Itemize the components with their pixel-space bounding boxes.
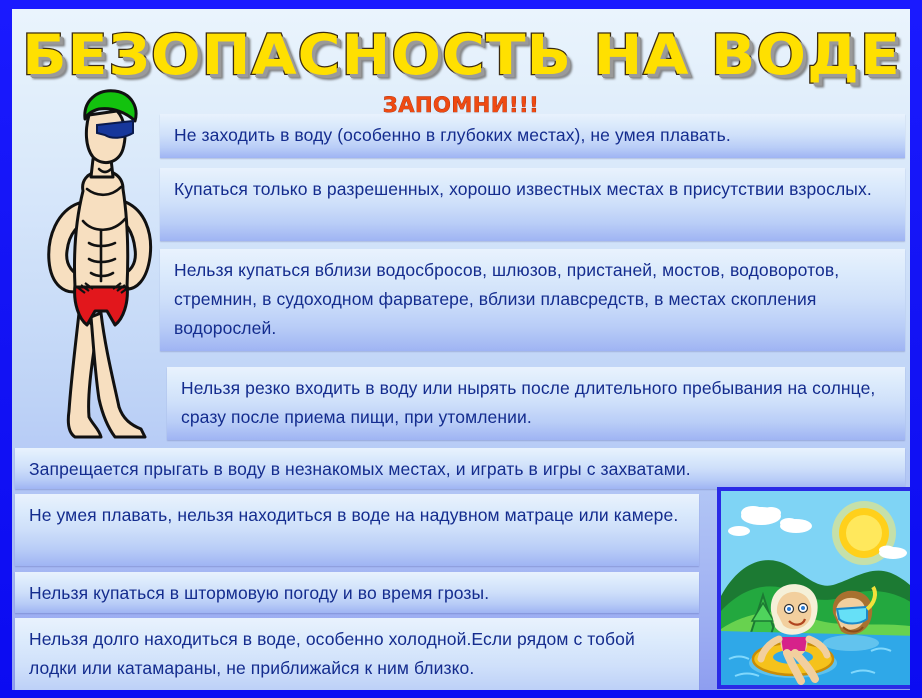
swimsuit [781,637,807,651]
rule-box-1: Не заходить в воду (особенно в глубоких … [160,114,905,158]
beach-scene-illustration [717,487,910,689]
rule-box-3: Нельзя купаться вблизи водосбросов, шлюз… [160,249,905,351]
rule-box-6: Не умея плавать, нельзя находиться в вод… [15,494,699,566]
beach-scene-svg [721,491,910,685]
poster-title-area: БЕЗОПАСНОСТЬ НА ВОДЕ [12,25,910,85]
sunglasses-icon [97,121,133,138]
rule-text: Нельзя долго находиться в воде, особенно… [29,625,685,683]
snorkel-mask-icon [837,607,867,624]
rule-text: Не умея плавать, нельзя находиться в вод… [29,501,685,530]
rule-box-2: Купаться только в разрешенных, хорошо из… [160,168,905,241]
rule-box-7: Нельзя купаться в штормовую погоду и во … [15,572,699,613]
swimmer-illustration [27,81,167,446]
swimmer-svg [27,81,167,446]
water-safety-poster: БЕЗОПАСНОСТЬ НА ВОДЕ ЗАПОМНИ!!! [0,0,922,698]
rule-text: Нельзя купаться в штормовую погоду и во … [29,579,685,608]
rule-box-5: Запрещается прыгать в воду в незнакомых … [15,448,905,489]
rule-box-4: Нельзя резко входить в воду или нырять п… [167,367,905,440]
rule-text: Запрещается прыгать в воду в незнакомых … [29,455,891,484]
rule-text: Нельзя купаться вблизи водосбросов, шлюз… [174,256,891,343]
page-title: БЕЗОПАСНОСТЬ НА ВОДЕ [22,25,901,85]
poster-canvas: БЕЗОПАСНОСТЬ НА ВОДЕ ЗАПОМНИ!!! [12,9,910,690]
rule-text: Нельзя резко входить в воду или нырять п… [181,374,891,432]
rule-text: Не заходить в воду (особенно в глубоких … [174,121,891,150]
rule-text: Купаться только в разрешенных, хорошо из… [174,175,891,204]
rule-box-8: Нельзя долго находиться в воде, особенно… [15,618,699,690]
